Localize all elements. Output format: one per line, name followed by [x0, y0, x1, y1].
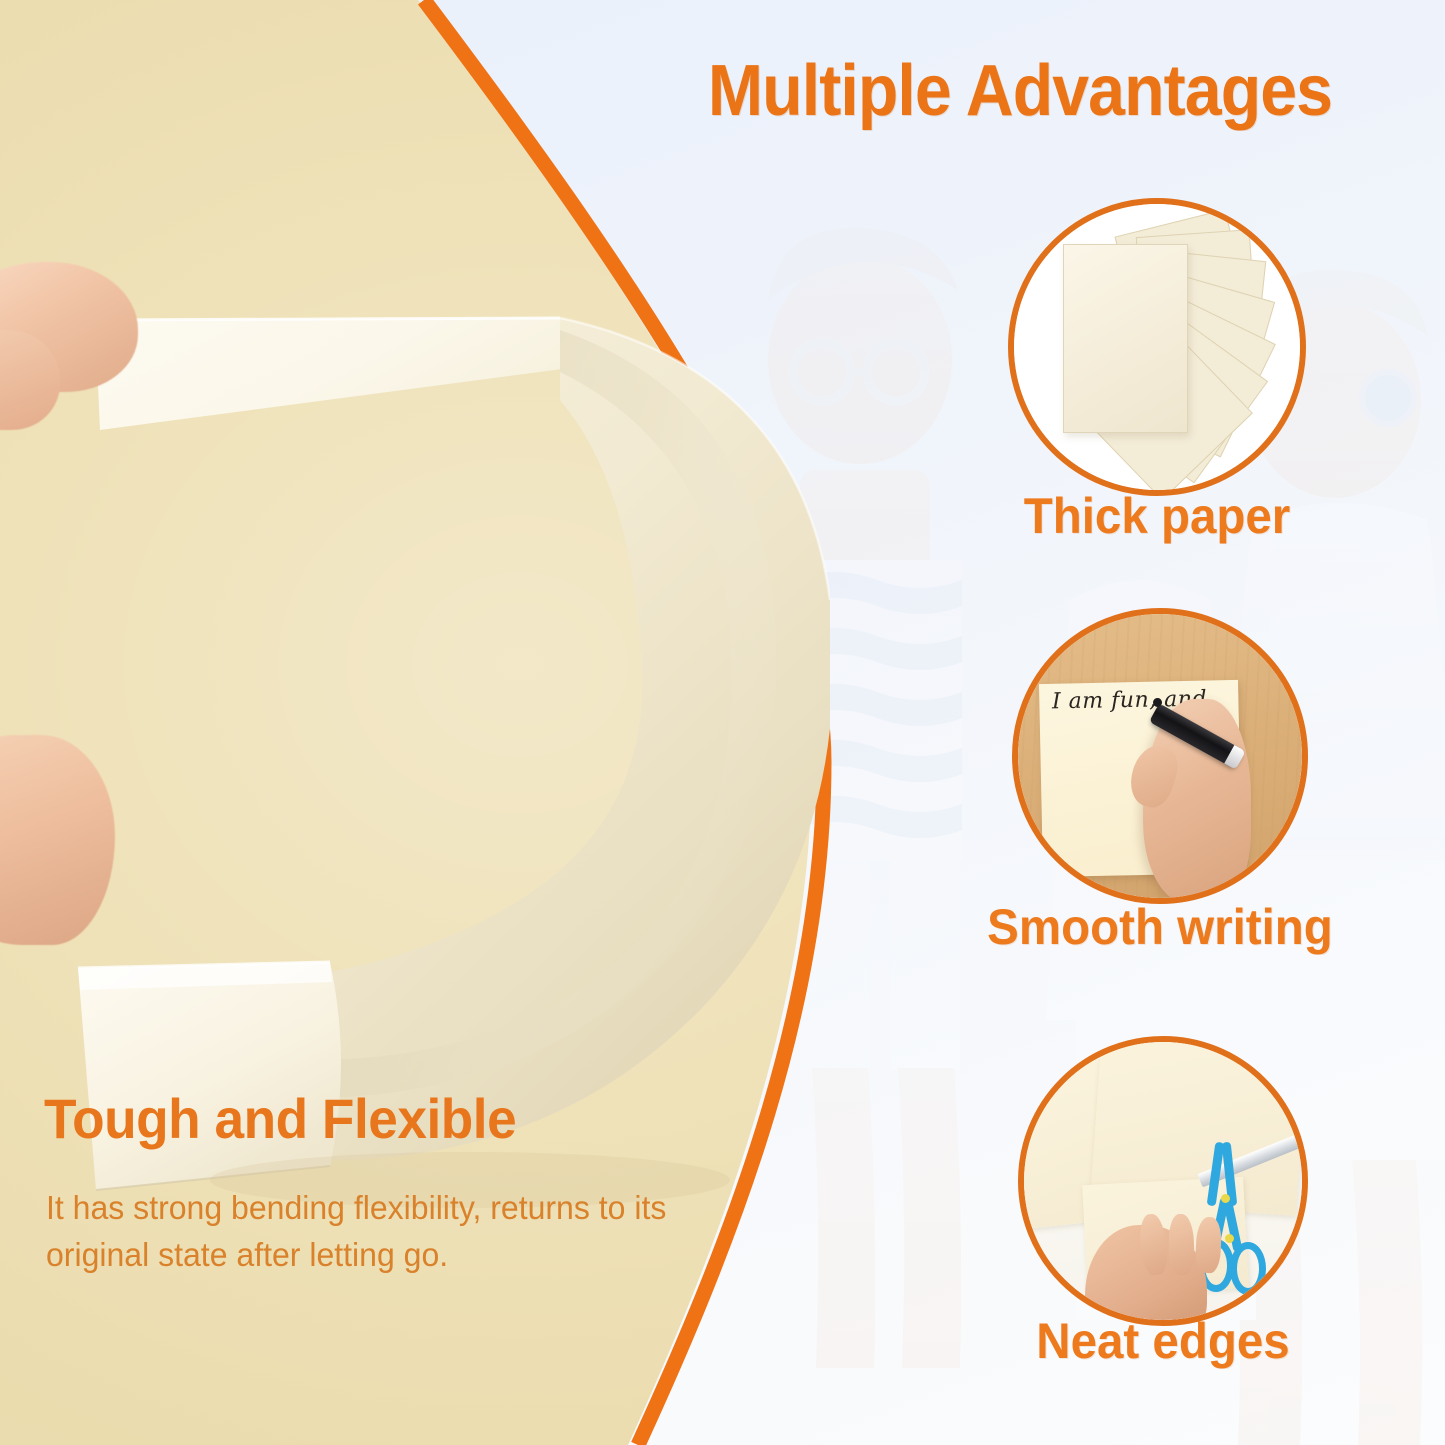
sheet-fan [1014, 204, 1300, 490]
neat-edges-image [1024, 1042, 1302, 1320]
left-feature-title: Tough and Flexible [44, 1086, 516, 1151]
thick-paper-circle [1008, 198, 1306, 496]
feature-label-thick-paper: Thick paper [1013, 487, 1302, 545]
left-feature-description: It has strong bending flexibility, retur… [46, 1185, 725, 1279]
page-title: Multiple Advantages [634, 54, 1407, 129]
neat-edges-circle [1018, 1036, 1308, 1326]
product-feature-graphic: Multiple Advantages Tough and Flexible I… [0, 0, 1445, 1445]
feature-label-smooth-writing: Smooth writing [970, 898, 1350, 956]
smooth-writing-circle: I am fun, and [1012, 608, 1308, 904]
finger [1167, 1214, 1194, 1276]
thick-paper-image [1014, 204, 1300, 490]
smooth-writing-image: I am fun, and [1018, 614, 1302, 898]
feature-label-neat-edges: Neat edges [1018, 1312, 1309, 1370]
front-sheet [1063, 244, 1189, 433]
